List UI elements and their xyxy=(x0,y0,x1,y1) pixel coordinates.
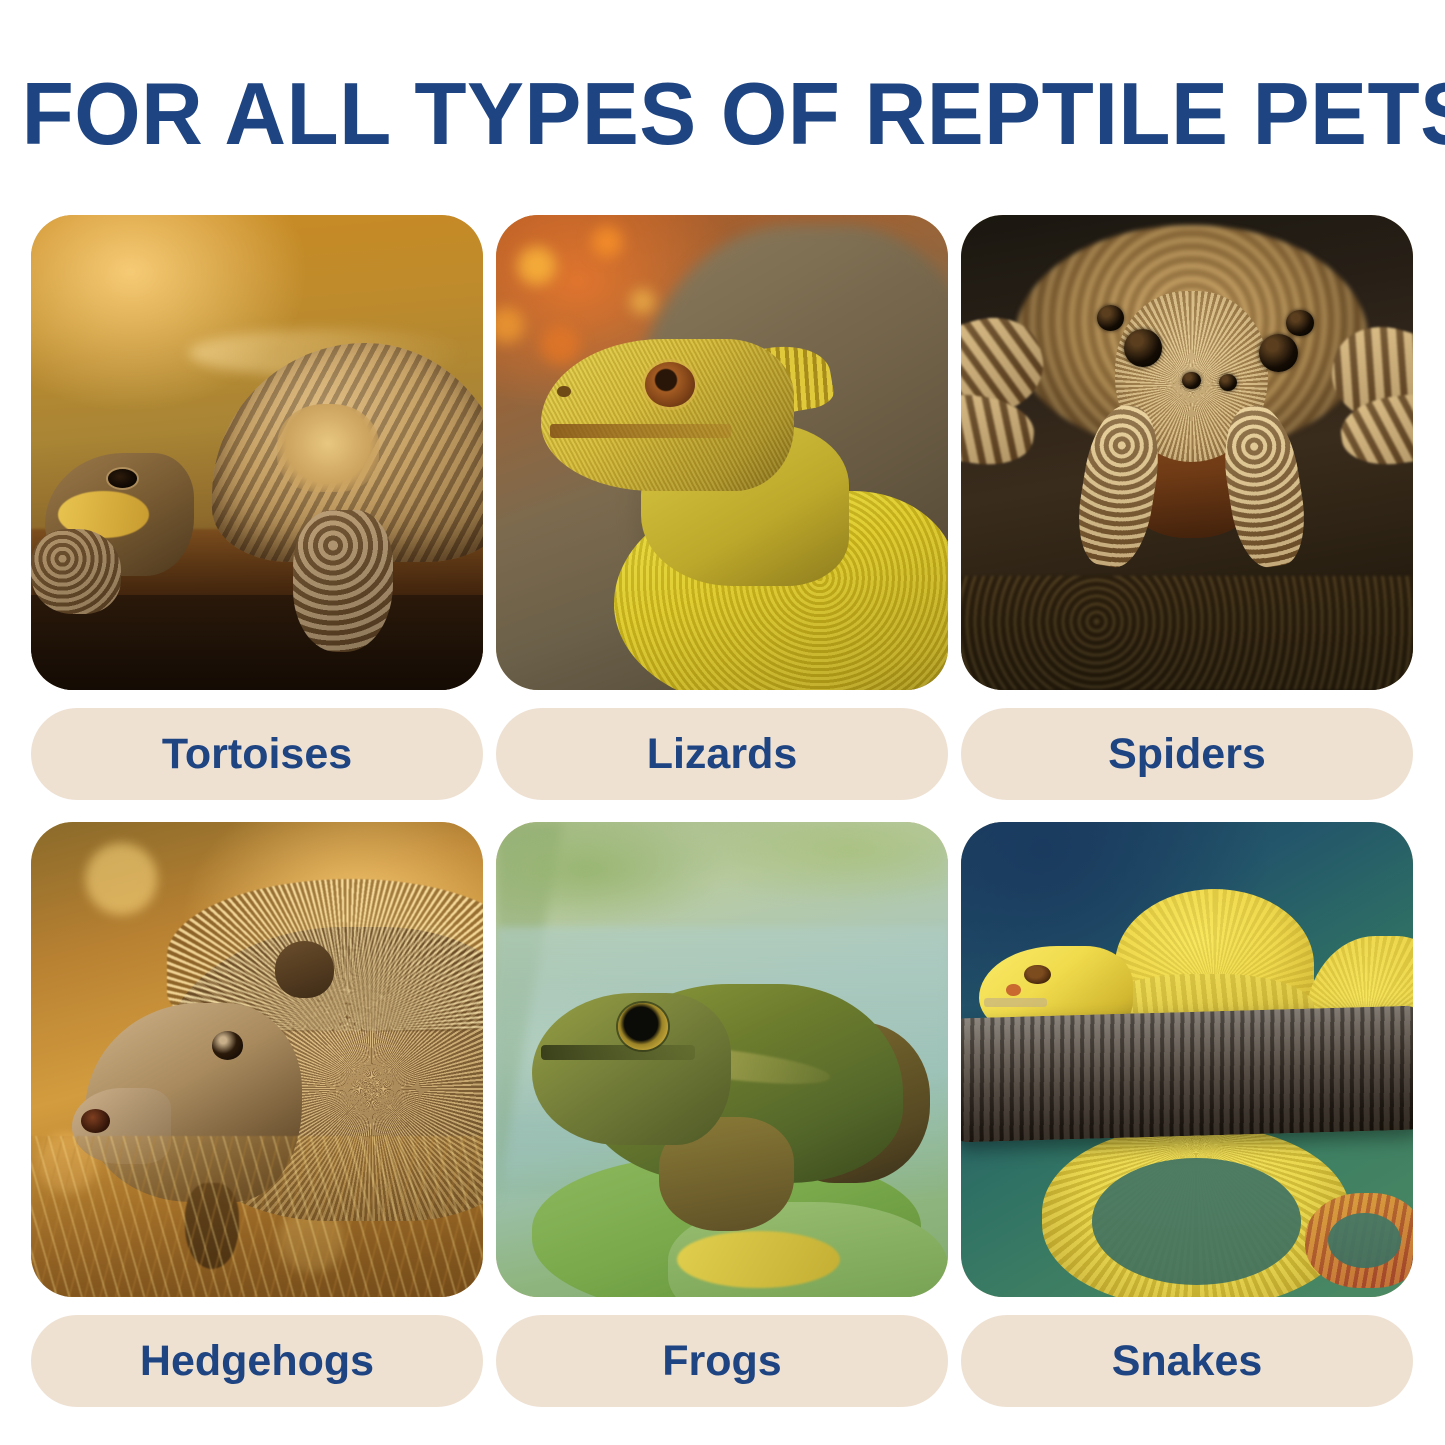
pet-label-text: Lizards xyxy=(647,731,798,777)
pet-label-pill-frogs[interactable]: Frogs xyxy=(496,1315,948,1407)
spider-eye-large-right xyxy=(1259,334,1297,372)
snake-lower-coil xyxy=(1042,1126,1349,1297)
pet-card-tortoises[interactable]: Tortoises xyxy=(31,215,483,800)
frog-lily-pad-yellow xyxy=(677,1231,840,1288)
frog-eye xyxy=(618,1003,668,1051)
snake-heat-pit xyxy=(1006,984,1020,996)
page-title: FOR ALL TYPES OF REPTILE PETS xyxy=(22,66,1424,162)
spider-eye-small-left xyxy=(1182,372,1200,389)
spider-photo[interactable] xyxy=(961,215,1413,690)
tortoise-photo[interactable] xyxy=(31,215,483,690)
snake-tree-branch xyxy=(961,1005,1413,1142)
spider-eye-mid-left xyxy=(1097,305,1124,331)
tortoise-front-leg xyxy=(31,529,121,615)
hedgehog-nose xyxy=(81,1109,110,1133)
lizard-photo[interactable] xyxy=(496,215,948,690)
pet-card-frogs[interactable]: Frogs xyxy=(496,822,948,1407)
spider-eye-mid-right xyxy=(1286,310,1313,336)
spider-eye-large-left xyxy=(1124,329,1162,367)
pet-card-spiders[interactable]: Spiders xyxy=(961,215,1413,800)
hedgehog-grass xyxy=(31,1136,483,1298)
pet-label-text: Spiders xyxy=(1108,731,1266,777)
pet-card-hedgehogs[interactable]: Hedgehogs xyxy=(31,822,483,1407)
snake-mouth xyxy=(984,998,1047,1008)
snake-tail xyxy=(1305,1193,1413,1288)
pet-label-pill-lizards[interactable]: Lizards xyxy=(496,708,948,800)
pet-label-text: Frogs xyxy=(662,1338,781,1384)
pet-card-snakes[interactable]: Snakes xyxy=(961,822,1413,1407)
lizard-eye xyxy=(645,362,695,407)
pet-label-pill-snakes[interactable]: Snakes xyxy=(961,1315,1413,1407)
lizard-nostril xyxy=(557,386,571,397)
pet-label-text: Hedgehogs xyxy=(140,1338,374,1384)
snake-photo[interactable] xyxy=(961,822,1413,1297)
pet-label-pill-hedgehogs[interactable]: Hedgehogs xyxy=(31,1315,483,1407)
hedgehog-eye xyxy=(212,1031,244,1060)
pet-label-pill-spiders[interactable]: Spiders xyxy=(961,708,1413,800)
tortoise-hind-leg xyxy=(293,510,392,653)
hedgehog-ear xyxy=(275,941,334,998)
frog-photo[interactable] xyxy=(496,822,948,1297)
hedgehog-photo[interactable] xyxy=(31,822,483,1297)
pet-label-text: Tortoises xyxy=(162,731,352,777)
poster-root: FOR ALL TYPES OF REPTILE PETS Tortoises xyxy=(0,0,1445,1445)
frog-mouth xyxy=(541,1045,695,1059)
pet-label-text: Snakes xyxy=(1112,1338,1263,1384)
lizard-mouth xyxy=(550,424,731,438)
spider-eye-small-right xyxy=(1219,374,1237,391)
spider-forest-floor xyxy=(961,576,1413,690)
pet-card-lizards[interactable]: Lizards xyxy=(496,215,948,800)
pet-label-pill-tortoises[interactable]: Tortoises xyxy=(31,708,483,800)
pet-category-grid: Tortoises Lizards xyxy=(31,215,1413,1407)
